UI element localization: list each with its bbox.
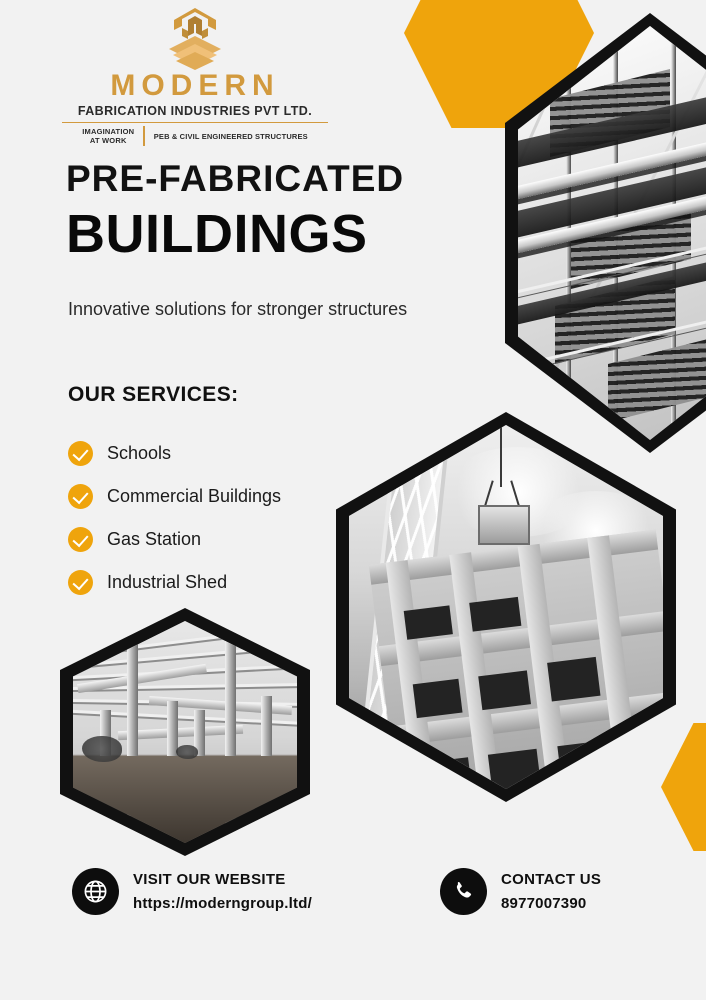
service-label: Gas Station [107, 529, 201, 550]
services-list: Schools Commercial Buildings Gas Station… [68, 432, 398, 604]
list-item: Gas Station [68, 518, 398, 561]
list-item: Commercial Buildings [68, 475, 398, 518]
list-item: Schools [68, 432, 398, 475]
website-contact-group[interactable]: VISIT OUR WEBSITE https://moderngroup.lt… [72, 868, 312, 915]
hexagon-building-logo-icon [158, 6, 232, 72]
website-label: VISIT OUR WEBSITE [133, 871, 312, 888]
contact-number[interactable]: 8977007390 [501, 895, 601, 912]
headline-line-1: PRE-FABRICATED [66, 160, 486, 199]
check-circle-icon [68, 527, 93, 552]
steel-shed-frame-photo [60, 608, 310, 856]
logo-divider [62, 122, 328, 124]
concrete-building [369, 530, 663, 789]
phone-contact-group[interactable]: CONTACT US 8977007390 [440, 868, 601, 915]
headline-line-2: BUILDINGS [66, 205, 486, 263]
photo-inner [73, 621, 297, 843]
phone-text-block: CONTACT US 8977007390 [501, 871, 601, 912]
subheadline: Innovative solutions for stronger struct… [68, 296, 428, 324]
logo-tagline-left-line1: IMAGINATION [82, 127, 134, 136]
phone-icon [440, 868, 487, 915]
service-label: Schools [107, 443, 171, 464]
footer: VISIT OUR WEBSITE https://moderngroup.lt… [0, 868, 706, 938]
company-logo: MODERN FABRICATION INDUSTRIES PVT LTD. I… [60, 6, 330, 146]
globe-icon [72, 868, 119, 915]
website-url[interactable]: https://moderngroup.ltd/ [133, 895, 312, 912]
services-title: OUR SERVICES: [68, 383, 239, 407]
logo-tagline-left: IMAGINATION AT WORK [82, 127, 134, 146]
service-label: Industrial Shed [107, 572, 227, 593]
logo-tagline-row: IMAGINATION AT WORK PEB & CIVIL ENGINEER… [60, 126, 330, 146]
check-circle-icon [68, 570, 93, 595]
logo-tagline-right: PEB & CIVIL ENGINEERED STRUCTURES [154, 132, 308, 141]
orange-hexagon-bottom-right [661, 723, 706, 851]
poster-canvas: MODERN FABRICATION INDUSTRIES PVT LTD. I… [0, 0, 706, 1000]
check-circle-icon [68, 484, 93, 509]
check-circle-icon [68, 441, 93, 466]
page-title: PRE-FABRICATED BUILDINGS [66, 160, 486, 263]
list-item: Industrial Shed [68, 561, 398, 604]
logo-company-subtitle: FABRICATION INDUSTRIES PVT LTD. [60, 104, 330, 118]
logo-tagline-divider [143, 126, 145, 146]
shed-frame-artwork [73, 621, 297, 843]
service-label: Commercial Buildings [107, 486, 281, 507]
website-text-block: VISIT OUR WEBSITE https://moderngroup.lt… [133, 871, 312, 912]
logo-tagline-left-line2: AT WORK [82, 136, 134, 145]
contact-label: CONTACT US [501, 871, 601, 888]
logo-company-name: MODERN [60, 70, 330, 102]
